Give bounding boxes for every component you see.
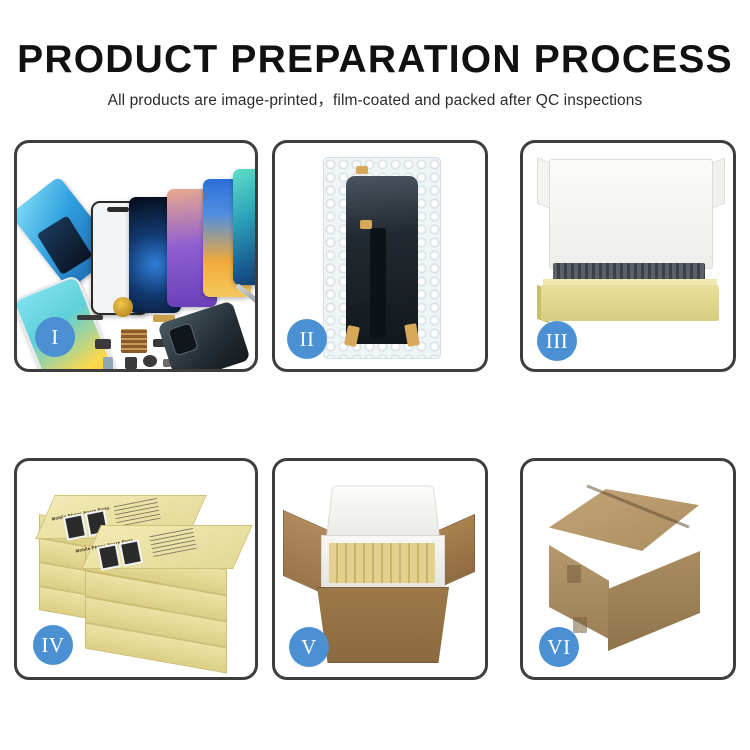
speaker-part — [113, 297, 133, 317]
bubble-wrap-bag — [323, 157, 441, 359]
carton-right-face — [608, 551, 700, 651]
label-screen-img-r2 — [119, 539, 143, 566]
process-step-grid: I II — [0, 0, 750, 750]
process-step-6: VI — [520, 458, 736, 680]
process-step-1: I — [14, 140, 258, 372]
label-screen-img-r1 — [97, 543, 121, 570]
process-step-4: Mobile Phone Spare Parts Mobile Phone Sp… — [14, 458, 258, 680]
camera-part — [125, 357, 137, 369]
step-badge-5: V — [289, 627, 329, 667]
battery-part — [103, 357, 113, 369]
box-yellow-base — [541, 285, 719, 321]
process-step-2: II — [272, 140, 488, 372]
step-badge-3: III — [537, 321, 577, 361]
step-badge-6: VI — [539, 627, 579, 667]
flex-cable-part — [77, 315, 103, 320]
label-screen-img-l1 — [63, 513, 87, 540]
phone-teal-screen — [233, 169, 255, 285]
step-badge-1: I — [35, 317, 75, 357]
ic-chip-part — [121, 329, 147, 353]
tape-middle — [360, 220, 372, 229]
carton-tab-upper — [567, 565, 581, 583]
yellow-boxes-inside — [329, 543, 435, 583]
carton-body-open — [317, 587, 449, 663]
screen-flex-cable — [370, 228, 386, 338]
process-step-3: III — [520, 140, 736, 372]
connector-part — [95, 339, 111, 349]
box-white-lid — [549, 159, 713, 269]
tape-top — [356, 166, 368, 174]
product-preparation-infographic: PRODUCT PREPARATION PROCESS All products… — [0, 0, 750, 750]
step-badge-2: II — [287, 319, 327, 359]
step-badge-4: IV — [33, 625, 73, 665]
carton-tab-lower — [573, 617, 587, 633]
button-part — [143, 355, 157, 367]
process-step-5: V — [272, 458, 488, 680]
